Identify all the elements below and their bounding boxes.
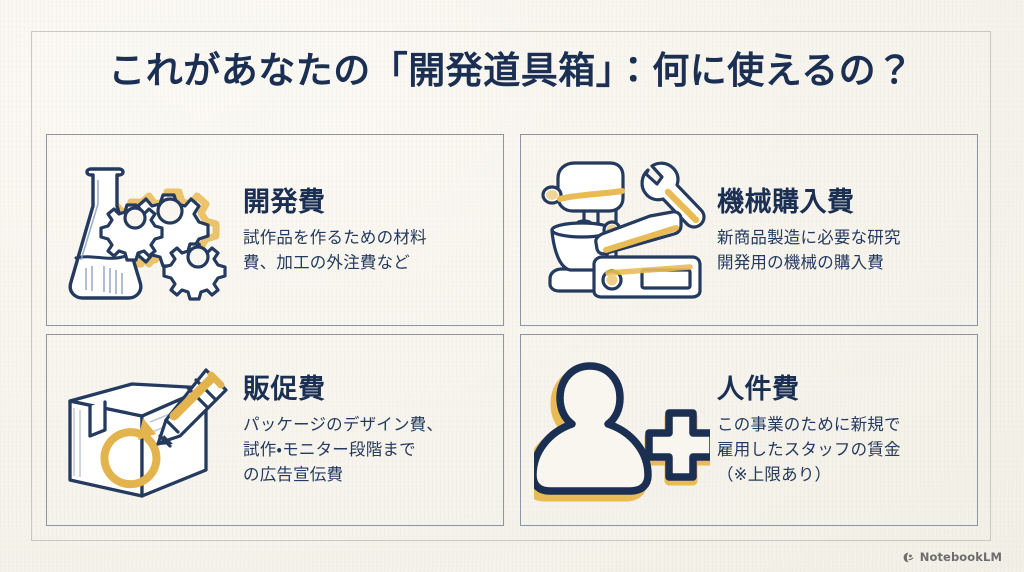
- card-personnel-cost-text: 人件費 この事業のために新規で 雇用したスタッフの賃金 （※上限あり）: [713, 373, 969, 487]
- card-description-line: この事業のために新規で: [717, 412, 965, 437]
- notebooklm-watermark: NotebookLM: [902, 550, 1002, 564]
- notebooklm-logo-icon: [902, 551, 915, 564]
- card-machinery-purchase-cost[interactable]: 機械購入費 新商品製造に必要な研究 開発用の機械の購入費: [520, 134, 978, 326]
- flask-gears-icon: [57, 150, 239, 310]
- card-promotion-cost-text: 販促費 パッケージのデザイン費、 試作・モニター段階まで の広告宣伝費: [239, 373, 495, 487]
- card-description-line: の広告宣伝費: [243, 462, 491, 487]
- card-description-line: 雇用したスタッフの賃金: [717, 437, 965, 462]
- card-machinery-purchase-cost-text: 機械購入費 新商品製造に必要な研究 開発用の機械の購入費: [713, 186, 969, 275]
- card-title: 開発費: [243, 186, 491, 220]
- card-title: 人件費: [717, 373, 965, 407]
- card-personnel-cost[interactable]: 人件費 この事業のために新規で 雇用したスタッフの賃金 （※上限あり）: [520, 334, 978, 526]
- card-description-line: 費、加工の外注費など: [243, 250, 491, 275]
- card-development-cost[interactable]: 開発費 試作品を作るための材料 費、加工の外注費など: [46, 134, 504, 326]
- person-plus-icon: [531, 350, 713, 510]
- card-development-cost-text: 開発費 試作品を作るための材料 費、加工の外注費など: [239, 186, 495, 275]
- card-promotion-cost[interactable]: 販促費 パッケージのデザイン費、 試作・モニター段階まで の広告宣伝費: [46, 334, 504, 526]
- card-description: 新商品製造に必要な研究 開発用の機械の購入費: [717, 225, 965, 275]
- expense-category-grid: 開発費 試作品を作るための材料 費、加工の外注費など: [46, 134, 978, 526]
- card-title: 販促費: [243, 373, 491, 407]
- notebooklm-label: NotebookLM: [920, 550, 1002, 564]
- card-description-line: 開発用の機械の購入費: [717, 250, 965, 275]
- card-description-line: 新商品製造に必要な研究: [717, 225, 965, 250]
- page-title: これがあなたの「開発道具箱」：何に使えるの？: [31, 44, 991, 98]
- card-title: 機械購入費: [717, 186, 965, 220]
- box-pencil-recycle-icon: [57, 350, 239, 510]
- card-description-line: 試作・モニター段階まで: [243, 437, 491, 462]
- card-description: パッケージのデザイン費、 試作・モニター段階まで の広告宣伝費: [243, 412, 491, 487]
- mixer-wrench-sealer-icon: [531, 150, 713, 310]
- card-description-line: パッケージのデザイン費、: [243, 412, 491, 437]
- card-description: この事業のために新規で 雇用したスタッフの賃金 （※上限あり）: [717, 412, 965, 487]
- card-description-line: （※上限あり）: [717, 462, 965, 487]
- card-description-line: 試作品を作るための材料: [243, 225, 491, 250]
- card-description: 試作品を作るための材料 費、加工の外注費など: [243, 225, 491, 275]
